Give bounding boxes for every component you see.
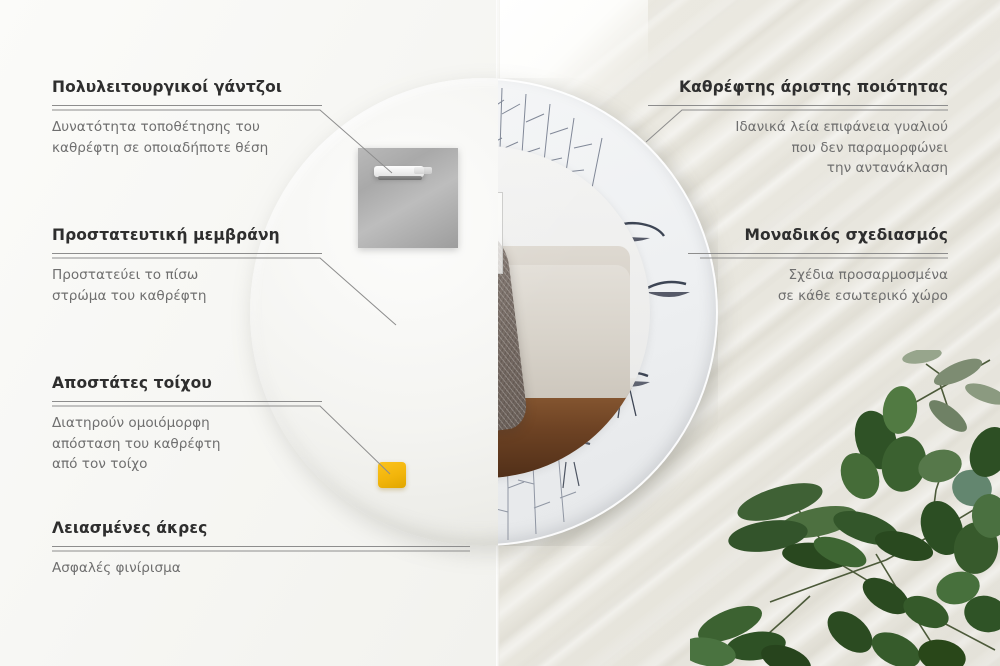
callout-spacers: Αποστάτες τοίχου Διατηρούν ομοιόμορφη απ…: [52, 374, 322, 475]
callout-hooks: Πολυλειτουργικοί γάντζοι Δυνατότητα τοπο…: [52, 78, 322, 158]
hook-screw-icon: [414, 167, 432, 174]
callout-membrane: Προστατευτική μεμβράνη Προστατεύει το πί…: [52, 226, 322, 306]
callout-quality-desc: Ιδανικά λεία επιφάνεια γυαλιού που δεν π…: [648, 117, 948, 179]
callout-edges-rule: [52, 546, 470, 547]
callout-edges: Λειασμένες άκρες Ασφαλές φινίρισμα: [52, 519, 352, 579]
wall-spacer-pad: [378, 462, 406, 488]
infographic-canvas: Πολυλειτουργικοί γάντζοι Δυνατότητα τοπο…: [0, 0, 1000, 666]
callout-design-desc: Σχέδια προσαρμοσμένα σε κάθε εσωτερικό χ…: [688, 265, 948, 306]
callout-quality-title: Καθρέφτης άριστης ποιότητας: [648, 78, 948, 96]
callout-spacers-rule: [52, 401, 322, 402]
callout-quality-rule: [648, 105, 948, 106]
hook-mounting-plate: [358, 148, 458, 248]
callout-membrane-title: Προστατευτική μεμβράνη: [52, 226, 322, 244]
callout-membrane-desc: Προστατεύει το πίσω στρώμα του καθρέφτη: [52, 265, 322, 306]
callout-design-title: Μοναδικός σχεδιασμός: [688, 226, 948, 244]
callout-spacers-desc: Διατηρούν ομοιόμορφη απόσταση του καθρέφ…: [52, 413, 322, 475]
callout-design: Μοναδικός σχεδιασμός Σχέδια προσαρμοσμέν…: [688, 226, 948, 306]
callout-edges-title: Λειασμένες άκρες: [52, 519, 352, 537]
callout-hooks-desc: Δυνατότητα τοποθέτησης του καθρέφτη σε ο…: [52, 117, 322, 158]
callout-membrane-rule: [52, 253, 322, 254]
callout-design-rule: [688, 253, 948, 254]
callout-hooks-rule: [52, 105, 322, 106]
callout-hooks-title: Πολυλειτουργικοί γάντζοι: [52, 78, 322, 96]
callout-spacers-title: Αποστάτες τοίχου: [52, 374, 322, 392]
hook-slot-icon: [378, 176, 422, 180]
callout-edges-desc: Ασφαλές φινίρισμα: [52, 558, 352, 579]
callout-quality: Καθρέφτης άριστης ποιότητας Ιδανικά λεία…: [648, 78, 948, 179]
